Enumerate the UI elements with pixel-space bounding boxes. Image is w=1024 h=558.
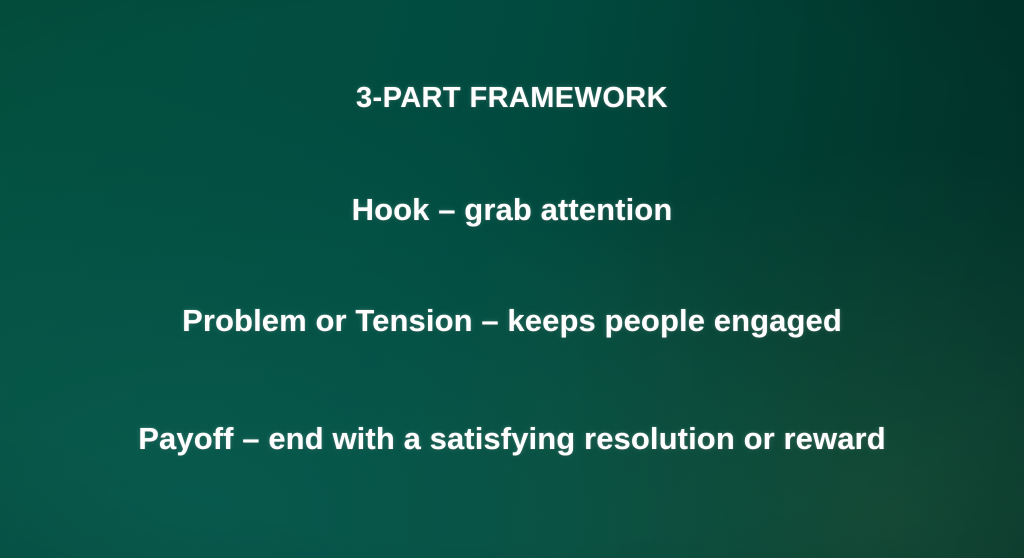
slide-title: 3-PART FRAMEWORK	[0, 82, 1024, 115]
slide-canvas: 3-PART FRAMEWORK Hook – grab attention P…	[0, 0, 1024, 558]
framework-item-problem: Problem or Tension – keeps people engage…	[0, 303, 1024, 339]
framework-item-payoff: Payoff – end with a satisfying resolutio…	[0, 421, 1024, 457]
framework-item-hook: Hook – grab attention	[0, 192, 1024, 228]
